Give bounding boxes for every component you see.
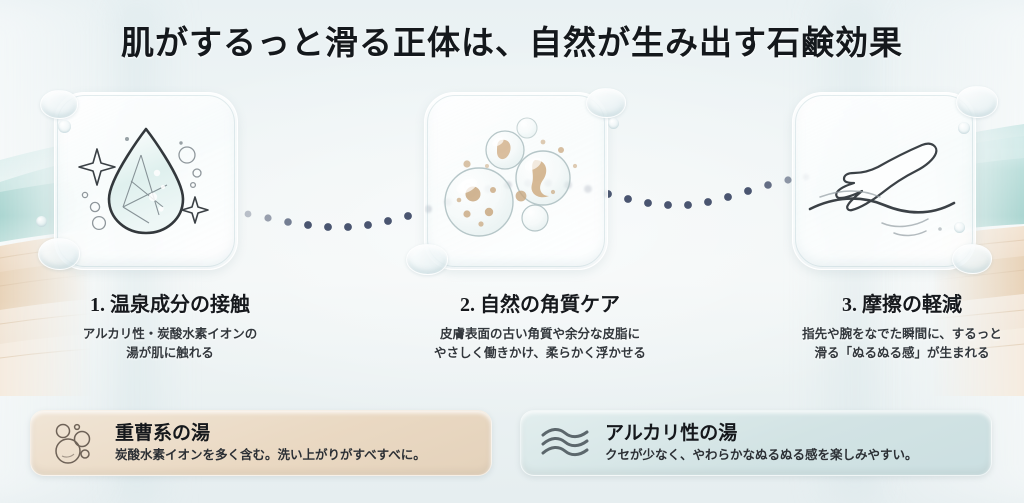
droplet-blob-card1-bottomleft [38, 238, 80, 270]
droplet-blob-card3-topright [956, 86, 998, 118]
step-2-heading: 2. 自然の角質ケア [380, 288, 700, 317]
step-2-body-line1: 皮膚表面の古い角質や余分な皮脂に [380, 325, 700, 344]
droplet-blob-card3-bottomright [952, 244, 992, 274]
droplet-mini-card3-bottom [954, 222, 965, 233]
step-card-2 [424, 92, 608, 270]
step-caption-1: 1. 温泉成分の接触 アルカリ性・炭酸水素イオンの 湯が肌に触れる [10, 288, 330, 364]
panel-baking-soda: 重曹系の湯 炭酸水素イオンを多く含む。洗い上がりがすべすべに。 [30, 410, 492, 476]
panel-baking-soda-heading: 重曹系の湯 [115, 423, 426, 445]
infographic-canvas: 肌がするっと滑る正体は、自然が生み出す石鹸効果 [0, 0, 1024, 503]
hand-gliding-over-wave-icon [793, 93, 975, 269]
step-1-heading: 1. 温泉成分の接触 [10, 288, 330, 317]
droplet-blob-card2-bottomleft [406, 244, 448, 275]
droplet-mini-card3-top [958, 122, 970, 134]
step-3-body: 指先や腕をなでた瞬間に、するっと 滑る「ぬるぬる感」が生まれる [742, 325, 1024, 364]
step-1-body: アルカリ性・炭酸水素イオンの 湯が肌に触れる [10, 325, 330, 364]
step-2-body-line2: やさしく働きかけ、柔らかく浮かせる [380, 344, 700, 363]
step-card-1 [54, 92, 238, 270]
droplet-mini-card1-top [58, 120, 71, 133]
step-2-body: 皮膚表面の古い角質や余分な皮脂に やさしく働きかけ、柔らかく浮かせる [380, 325, 700, 364]
panel-alkaline: アルカリ性の湯 クセが少なく、やわらかなぬるぬる感を楽しみやすい。 [520, 410, 992, 476]
droplet-mini-card2-top [608, 118, 619, 129]
droplet-blob-card1-topleft [40, 90, 78, 119]
panel-baking-soda-text: 重曹系の湯 炭酸水素イオンを多く含む。洗い上がりがすべすべに。 [115, 423, 426, 463]
panel-alkaline-body: クセが少なく、やわらかなぬるぬる感を楽しみやすい。 [605, 448, 918, 463]
panel-baking-soda-body: 炭酸水素イオンを多く含む。洗い上がりがすべすべに。 [115, 448, 426, 463]
step-3-heading: 3. 摩擦の軽減 [742, 288, 1024, 317]
step-1-body-line1: アルカリ性・炭酸水素イオンの [10, 325, 330, 344]
droplet-mini-card1-bottom [36, 216, 47, 227]
wave-lines-icon [539, 420, 591, 466]
step-card-3 [792, 92, 976, 270]
panel-alkaline-text: アルカリ性の湯 クセが少なく、やわらかなぬるぬる感を楽しみやすい。 [605, 423, 918, 463]
step-1-body-line2: 湯が肌に触れる [10, 344, 330, 363]
step-3-body-line1: 指先や腕をなでた瞬間に、するっと [742, 325, 1024, 344]
water-droplet-icon [55, 93, 237, 269]
droplet-blob-card2-topright [586, 88, 626, 118]
bubbles-with-particles-icon [425, 93, 607, 269]
bubbles-icon [49, 420, 101, 466]
panel-alkaline-heading: アルカリ性の湯 [605, 423, 918, 445]
page-title: 肌がするっと滑る正体は、自然が生み出す石鹸効果 [0, 16, 1024, 64]
step-3-body-line2: 滑る「ぬるぬる感」が生まれる [742, 344, 1024, 363]
step-caption-2: 2. 自然の角質ケア 皮膚表面の古い角質や余分な皮脂に やさしく働きかけ、柔らか… [380, 288, 700, 364]
step-caption-3: 3. 摩擦の軽減 指先や腕をなでた瞬間に、するっと 滑る「ぬるぬる感」が生まれる [742, 288, 1024, 364]
